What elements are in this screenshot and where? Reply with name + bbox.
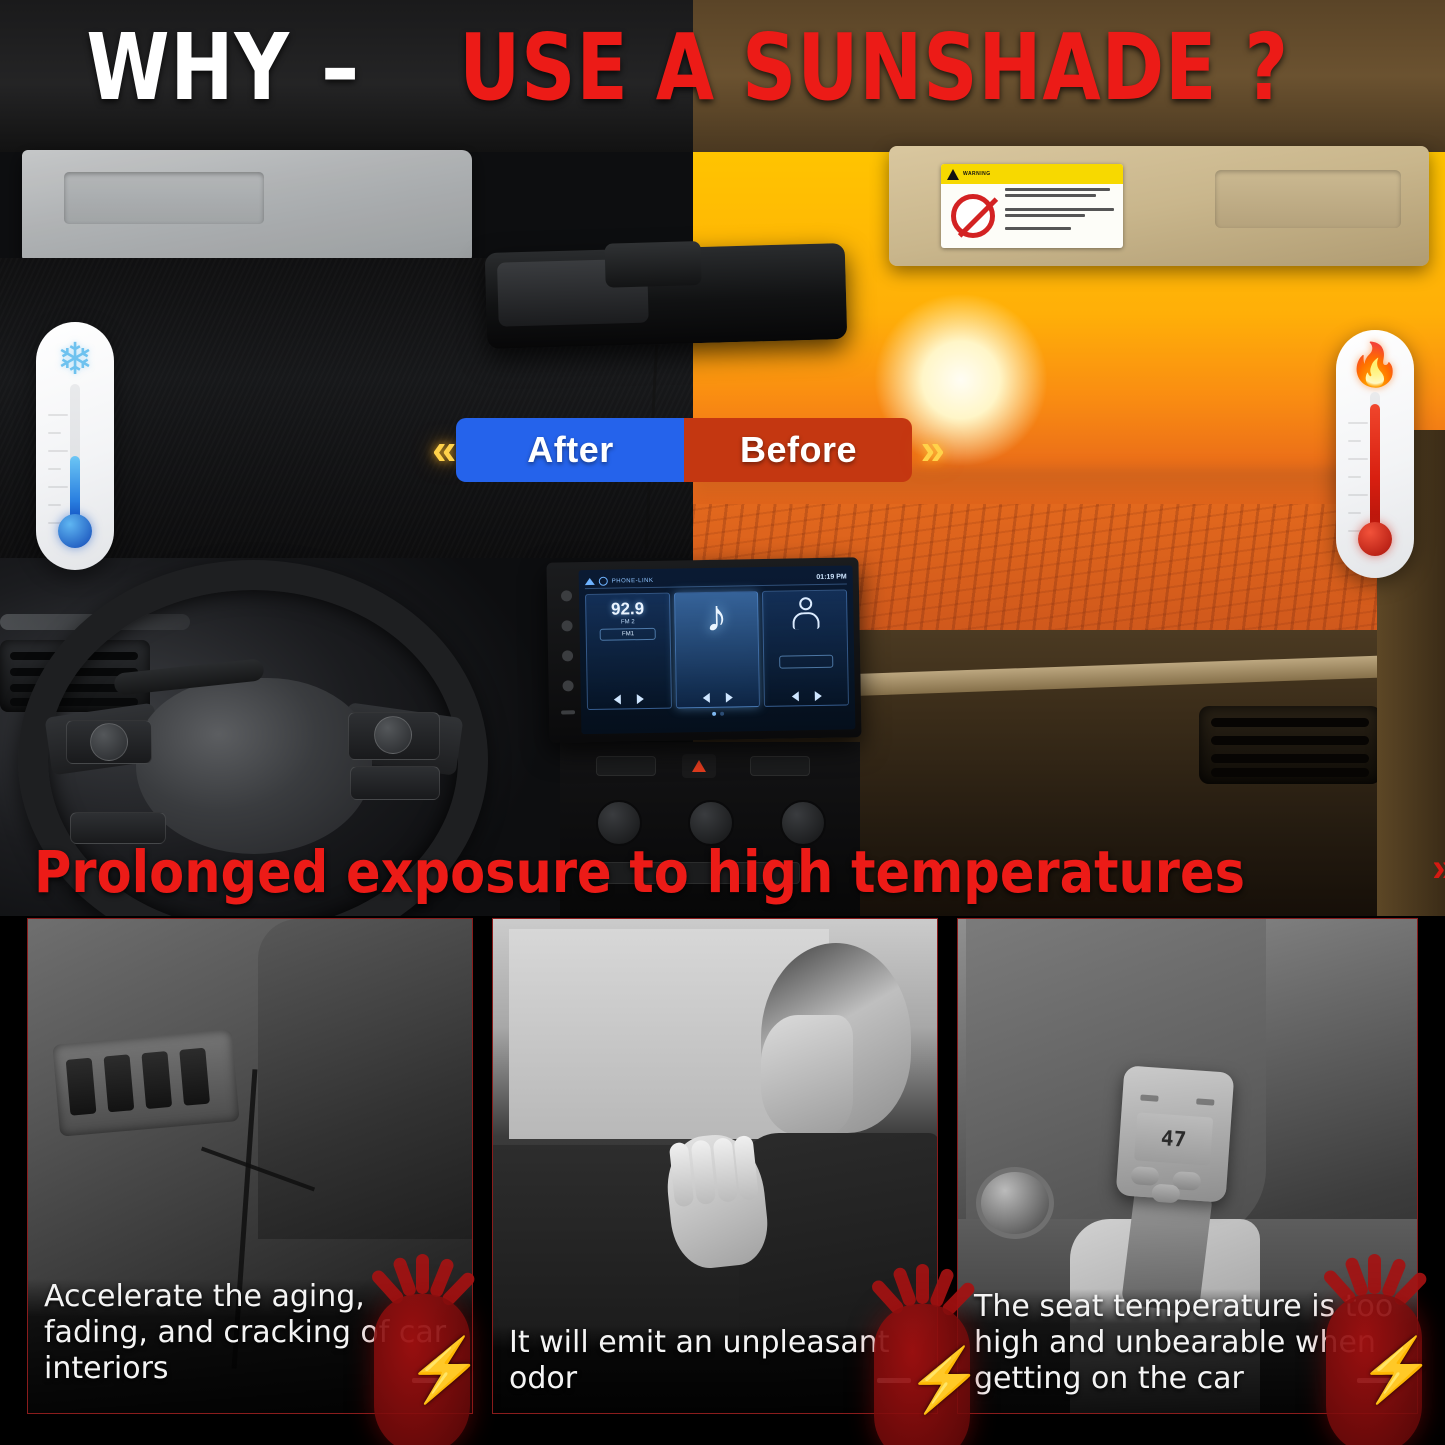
cold-thermometer-bulb [58,514,92,548]
contact-person-icon [790,597,821,632]
card-2-caption-text: It will emit an unpleasant odor [509,1325,921,1397]
media-tile[interactable]: ♪ [674,591,761,708]
hot-thermometer: 🔥 [1336,330,1414,578]
menu-key[interactable] [562,680,573,691]
radio-band: FM 2 [600,619,656,626]
thermometer-labels [1140,1095,1214,1108]
visor-right-slot [1215,170,1401,228]
infotainment-head-unit[interactable]: PHONE-LINK 01:19 PM 92.9 FM 2 FM1 [546,557,861,742]
warning-label-body [941,184,1123,248]
radio-tile[interactable]: 92.9 FM 2 FM1 [585,593,672,710]
flame-icon: 🔥 [1349,344,1401,386]
after-badge[interactable]: After [456,418,684,482]
card-unpleasant-odor: It will emit an unpleasant odor [492,918,938,1414]
card-1-caption: Accelerate the aging, fading, and cracki… [28,1279,472,1413]
dash-vent-right [1199,706,1381,784]
bluetooth-icon [599,577,608,586]
page-title: WHY – USE A SUNSHADE ? [0,22,1445,114]
sun-visor-left [22,150,472,262]
music-note-icon: ♪ [705,599,728,635]
page-indicator[interactable] [587,709,849,718]
hot-thermometer-bulb [1358,522,1392,556]
chevron-left-icon: « [432,428,450,472]
media-nav[interactable] [703,693,733,704]
warning-label-lines [1005,184,1123,248]
power-key[interactable] [560,590,571,601]
eject-key[interactable] [561,711,575,715]
steering-dial-right [374,716,412,754]
hot-thermometer-mercury [1370,404,1380,528]
before-badge[interactable]: Before [684,418,912,482]
steering-dial-left [90,723,128,761]
head-unit-screen[interactable]: PHONE-LINK 01:19 PM 92.9 FM 2 FM1 [579,565,856,734]
product-infographic: WARNING [0,0,1445,1445]
card-hot-seat: 47 The seat temperature is too high and … [957,918,1418,1414]
thermometer-buttons[interactable] [1130,1166,1214,1198]
person-body [792,612,819,629]
radio-prev-icon[interactable] [614,694,621,704]
phone-nav[interactable] [791,691,821,702]
card-3-caption-text: The seat temperature is too high and unb… [974,1289,1401,1397]
console-button-right[interactable] [750,756,810,776]
person-face-shape [761,1015,853,1135]
cold-thermometer-mercury [70,456,80,520]
card-1-caption-text: Accelerate the aging, fading, and cracki… [44,1279,456,1387]
rearview-mirror [485,243,848,349]
phone-prev-icon[interactable] [791,691,798,701]
chevron-right-icon: » [920,428,938,472]
radio-preset-button[interactable]: FM1 [600,628,656,641]
thermometer-display: 47 [1134,1112,1213,1165]
airbag-warning-label: WARNING [941,164,1123,248]
mid-banner-arrows-icon: ››› [1432,846,1445,891]
media-prev-icon[interactable] [703,693,710,703]
media-next-icon[interactable] [726,693,733,703]
seat-shape [258,919,473,1239]
page-dot-inactive[interactable] [720,712,724,716]
title-dash: – [321,22,360,114]
card-1-corner-mark [412,1378,446,1383]
warning-label-header: WARNING [941,164,1123,184]
defroster-vent [52,1029,239,1136]
mid-banner-text: Prolonged exposure to high temperatures [34,843,1245,901]
phone-swipe-area[interactable] [779,654,833,668]
before-after-toggle[interactable]: « After Before » [432,418,939,482]
no-child-seat-pictogram [941,184,1005,248]
mid-banner: Prolonged exposure to high temperatures … [0,828,1445,916]
source-label: PHONE-LINK [612,577,654,584]
page-dot-active[interactable] [712,712,716,716]
person-head [799,597,812,610]
home-key[interactable] [561,620,572,631]
infrared-thermometer-gun: 47 [1116,1065,1235,1202]
volume-key[interactable] [561,650,572,661]
warning-label-text: WARNING [963,171,991,177]
consequences-card-row: Accelerate the aging, fading, and cracki… [0,916,1445,1445]
prohibition-icon [951,194,995,238]
radio-next-icon[interactable] [637,694,644,704]
card-3-corner-mark [1357,1378,1391,1383]
radio-frequency: 92.9 [599,600,655,618]
phone-tile[interactable] [762,589,849,706]
head-unit-hard-keys[interactable] [553,570,582,734]
console-button-left[interactable] [596,756,656,776]
card-aging-cracking: Accelerate the aging, fading, and cracki… [27,918,473,1414]
signal-icon [585,578,595,585]
wristwatch [976,1167,1054,1239]
warning-triangle-icon [947,169,959,180]
card-2-corner-mark [877,1378,911,1383]
title-why: WHY [87,22,290,114]
cold-thermometer: ❄ [36,322,114,570]
head-unit-status-bar: PHONE-LINK 01:19 PM [585,570,847,589]
hazard-button[interactable] [682,754,716,778]
card-3-caption: The seat temperature is too high and unb… [958,1289,1417,1413]
sun-visor-right: WARNING [889,146,1429,266]
snowflake-icon: ❄ [57,338,94,382]
head-unit-tiles: 92.9 FM 2 FM1 ♪ [585,589,849,710]
status-icons: PHONE-LINK [585,576,654,586]
hero-before-after-section: WARNING [0,0,1445,916]
title-use-a-sunshade: USE A SUNSHADE ? [460,22,1290,114]
mirror-camera-pod [605,241,702,288]
clock-label: 01:19 PM [816,573,846,581]
phone-next-icon[interactable] [814,691,821,701]
radio-nav[interactable] [614,694,644,705]
steering-button-row-right [350,766,440,800]
card-2-caption: It will emit an unpleasant odor [493,1325,937,1413]
